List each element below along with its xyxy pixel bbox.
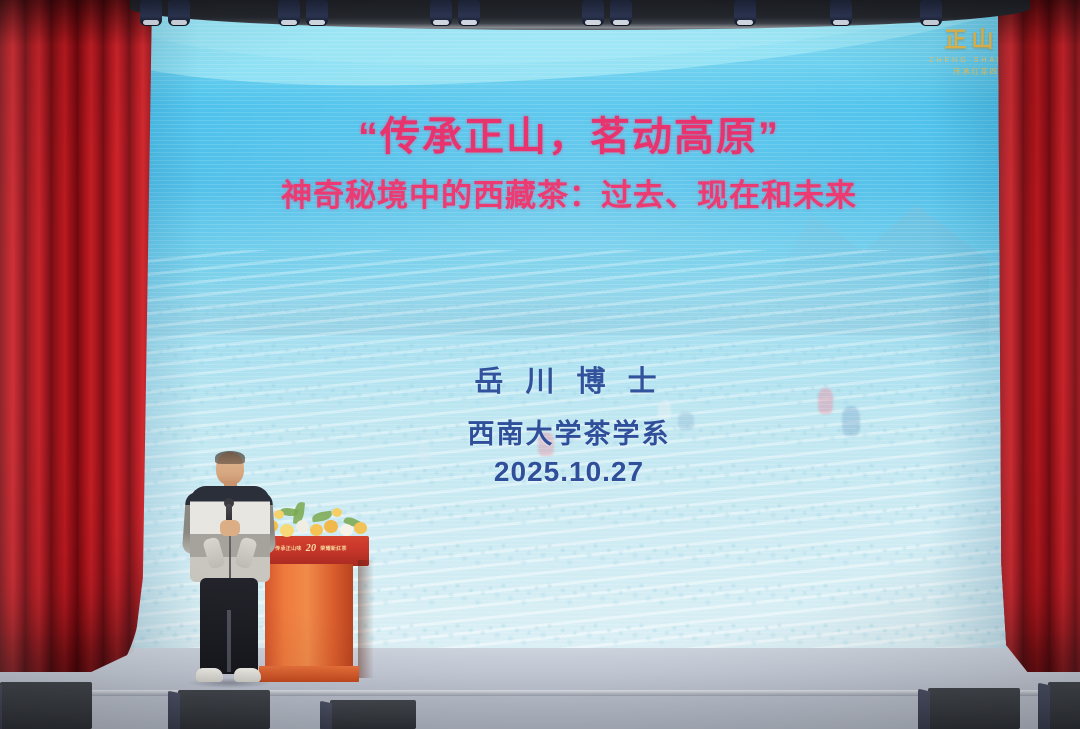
screen-tea-picker: [678, 412, 694, 430]
stage-light-fixture: [430, 0, 452, 26]
podium-body: [265, 564, 353, 672]
stage-monitor: [928, 688, 1020, 729]
podium-banner-badge: 20: [306, 544, 317, 554]
left-stage-curtain: [0, 0, 152, 672]
flower-petal: [354, 522, 367, 534]
stage-light-fixture: [610, 0, 632, 26]
stage-light-fixture: [140, 0, 162, 26]
stage-light-fixture: [734, 0, 756, 26]
stage-light-fixture: [830, 0, 852, 26]
flower-petal: [296, 520, 309, 533]
curtain-sheen: [0, 0, 152, 672]
flower-petal: [324, 520, 338, 533]
right-stage-curtain: [998, 0, 1080, 672]
flower-petal: [280, 524, 294, 537]
stage-light-fixture: [306, 0, 328, 26]
podium-shadow: [358, 560, 374, 678]
presenter-hands: [220, 520, 240, 536]
flower-petal: [310, 524, 323, 536]
screen-tea-picker: [658, 400, 671, 420]
stage-light-fixture: [920, 0, 942, 26]
screen-tea-picker: [562, 420, 576, 442]
stage-monitor: [0, 682, 92, 729]
stage-light-fixture: [168, 0, 190, 26]
screen-tea-picker: [300, 452, 313, 470]
curtain-sheen: [998, 0, 1080, 672]
presenter-left-shoe: [196, 668, 223, 682]
podium-banner-right-text: 荣耀新红茶: [320, 545, 347, 552]
flower-petal: [340, 524, 353, 536]
flower-petal: [332, 508, 342, 517]
stage-monitor: [1048, 682, 1080, 729]
screen-tea-picker: [538, 432, 554, 456]
screen-tea-picker: [818, 388, 833, 414]
screen-tea-picker: [842, 406, 860, 436]
stage-scene: “传承正山，茗动高原” 神奇秘境中的西藏茶：过去、现在和未来 岳 川 博 士 西…: [0, 0, 1080, 729]
podium-banner-left-text: 传承正山味: [275, 545, 302, 552]
slide-title: “传承正山，茗动高原”: [118, 104, 1020, 162]
screen-tea-picker: [418, 444, 430, 462]
presenter-person: [182, 452, 278, 700]
stage-light-fixture: [582, 0, 604, 26]
presenter-right-shoe: [234, 668, 261, 682]
presenter-hair: [215, 451, 245, 464]
stage-monitor: [330, 700, 416, 729]
presenter-leg-gap: [227, 610, 231, 672]
stage-light-fixture: [278, 0, 300, 26]
stage-light-fixture: [458, 0, 480, 26]
